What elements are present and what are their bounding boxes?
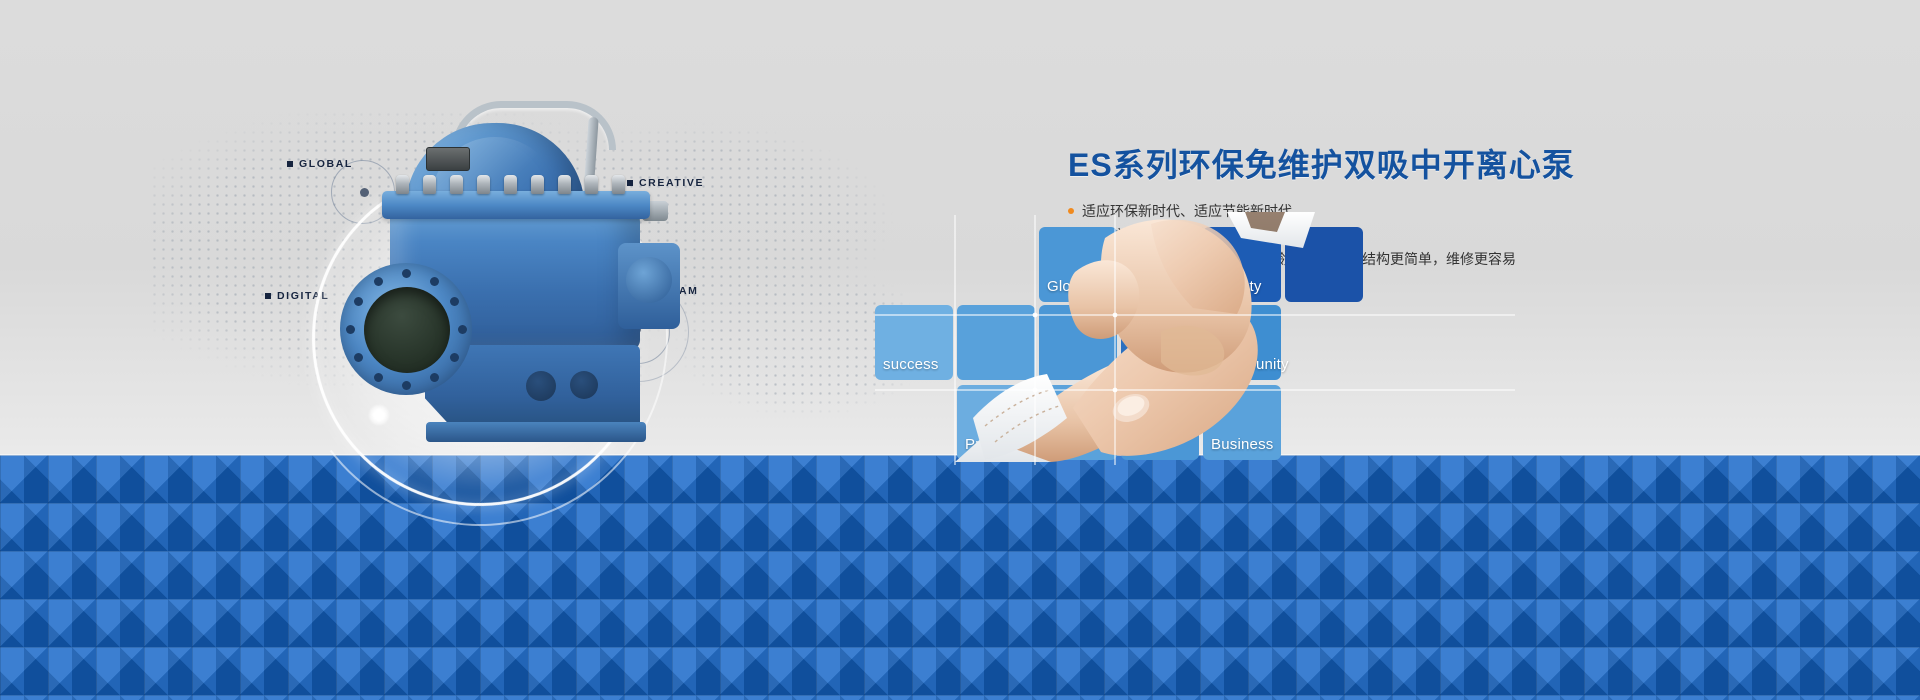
pump-bearing-cap <box>626 257 672 303</box>
mosaic-tile-label: Global <box>1047 278 1092 295</box>
mosaic-tile-label: Promise <box>965 436 1021 453</box>
mosaic-tile <box>1121 385 1199 460</box>
mosaic-tile-promise: Promise <box>957 385 1035 460</box>
page-title: ES系列环保免维护双吸中开离心泵 <box>1068 140 1575 186</box>
pump-flange-bolt <box>430 277 439 286</box>
pump-bolt <box>450 175 463 194</box>
mosaic-tile-success: success <box>875 305 953 380</box>
mosaic-tile-society: Society <box>1203 227 1281 302</box>
pump-flange-bolt <box>374 277 383 286</box>
mosaic-tile <box>1039 385 1117 460</box>
feature-bullet-item: 适应环保新时代、适应节能新时代 <box>1068 200 1516 222</box>
mosaic-tile-label: Business <box>1211 436 1273 453</box>
mosaic-tile-global: Global <box>1039 227 1117 302</box>
bullet-dot-icon <box>1068 208 1074 214</box>
centrifugal-pump-image <box>330 95 710 465</box>
mosaic-tile <box>1121 227 1199 302</box>
pump-flange-bolt <box>354 353 363 362</box>
square-bullet-icon <box>265 293 271 299</box>
pump-bolt <box>504 175 517 194</box>
mosaic-tile-label: Society <box>1211 278 1262 295</box>
pump-nameplate <box>426 147 470 171</box>
pump-flange-bolt <box>354 297 363 306</box>
pump-split-flange <box>382 191 650 219</box>
pump-suction-bore <box>364 287 450 373</box>
pump-bolt <box>612 175 625 194</box>
mosaic-tile <box>957 305 1035 380</box>
pump-bolt <box>585 175 598 194</box>
mosaic-tile <box>1285 227 1363 302</box>
pump-base-plate <box>426 422 646 442</box>
pump-foot-hole <box>526 371 556 401</box>
feature-bullet-text: 适应环保新时代、适应节能新时代 <box>1082 200 1292 222</box>
pump-foot-hole <box>570 371 598 399</box>
mosaic-tile-label: success <box>883 356 939 373</box>
pump-bolt <box>531 175 544 194</box>
pump-flange-bolt <box>346 325 355 334</box>
pump-flange-bolt <box>458 325 467 334</box>
mosaic-tile <box>1039 305 1117 380</box>
square-bullet-icon <box>287 161 293 167</box>
blue-pyramid-texture-band <box>0 455 1920 700</box>
mosaic-tile-community: Community <box>1203 305 1281 380</box>
pump-bolt <box>558 175 571 194</box>
product-hero-banner: GLOBAL DIGITAL CREATIVE DREAM <box>0 0 1920 700</box>
tile-mosaic: successGlobalSocietyCommunityPromiseBusi… <box>875 265 1555 465</box>
pump-flange-bolt <box>402 381 411 390</box>
pump-bolt <box>396 175 409 194</box>
mosaic-tile-label: Community <box>1211 356 1289 373</box>
mosaic-tile-business: Business <box>1203 385 1281 460</box>
mosaic-tile <box>1121 305 1199 380</box>
pump-bolt <box>423 175 436 194</box>
pump-bolt <box>477 175 490 194</box>
pump-flange-bolt <box>402 269 411 278</box>
